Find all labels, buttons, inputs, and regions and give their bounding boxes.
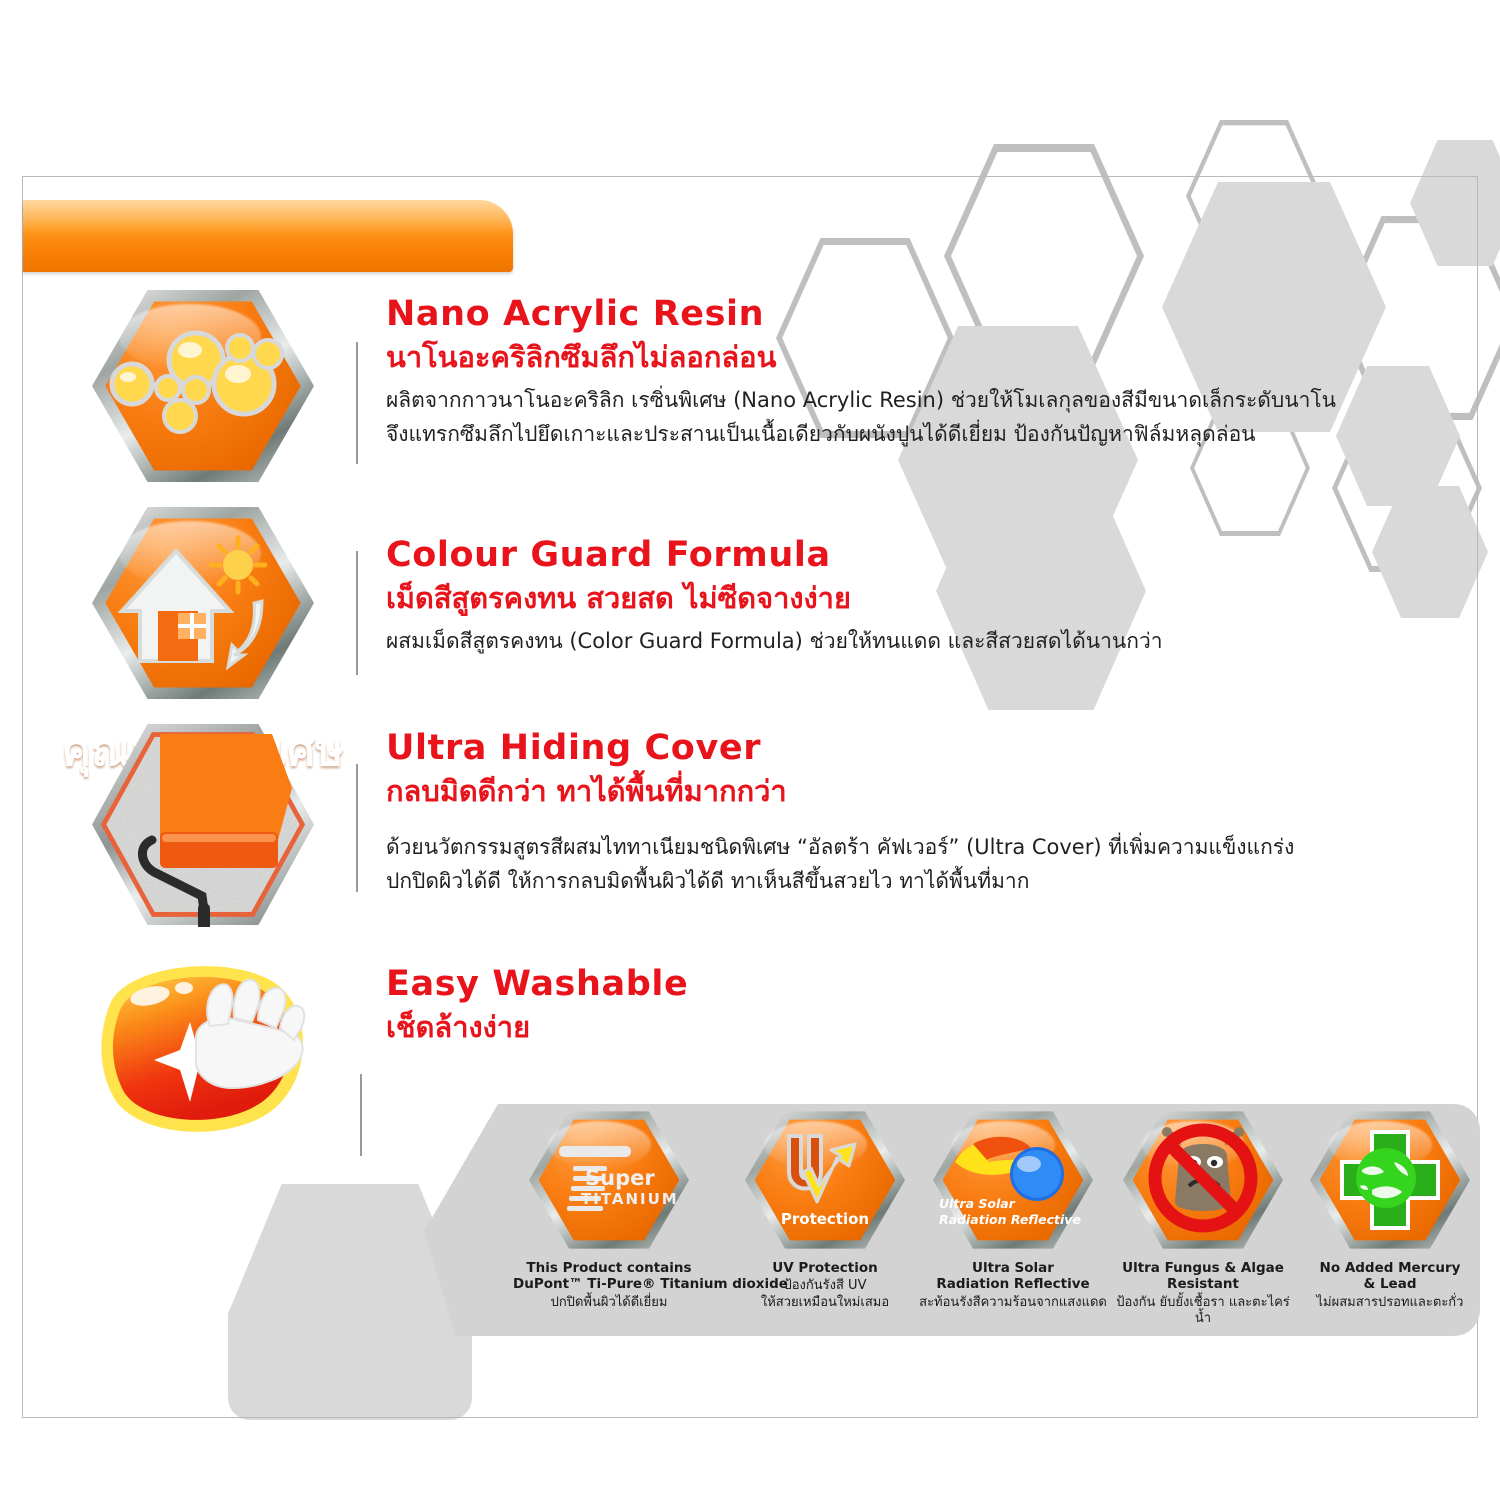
feature-separator xyxy=(360,1074,362,1156)
feature-title-th: กลบมิดดีกว่า ทาได้พื้นที่มากกว่า xyxy=(386,774,1294,809)
badge-inner-main-label: Ultra Solar xyxy=(939,1196,1053,1211)
feature-title-en: Ultra Hiding Cover xyxy=(386,730,1294,767)
feature-text-block: Nano Acrylic Resin นาโนอะคริลิกซึมลึกไม่… xyxy=(386,296,1336,451)
badge-caption-en-line2: & Lead xyxy=(1300,1276,1480,1292)
badge-inner-sub-label: TITANIUM xyxy=(581,1190,685,1208)
super-titanium-icon: Super TITANIUM xyxy=(529,1110,689,1250)
badge-no-mercury-lead: No Added Mercury & Lead ไม่ผสมสารปรอทและ… xyxy=(1300,1110,1480,1311)
badge-caption-en-line1: Ultra Fungus & Algae xyxy=(1110,1260,1296,1276)
badge-caption-th: ไม่ผสมสารปรอทและตะกั่ว xyxy=(1300,1295,1480,1311)
molecule-bubbles-hex-icon xyxy=(92,288,314,484)
feature-row-colour-guard-formula: Colour Guard Formula เม็ดสีสูตรคงทน สวยส… xyxy=(92,505,1472,705)
feature-title-en: Nano Acrylic Resin xyxy=(386,296,1336,333)
badge-caption-en-line2: Radiation Reflective xyxy=(915,1276,1111,1292)
feature-body-line1: ผลิตจากกาวนาโนอะคริลิก เรซิ่นพิเศษ (Nano… xyxy=(386,384,1336,417)
badge-solar-reflective: Ultra Solar Radiation Reflective Ultra S… xyxy=(915,1110,1111,1311)
feature-body-line2: จึงแทรกซึมลึกไปยึดเกาะและประสานเป็นเนื้อ… xyxy=(386,418,1336,451)
badge-super-titanium: Super TITANIUM This Product contains DuP… xyxy=(513,1110,705,1311)
badge-caption-th: ป้องกัน ยับยั้งเชื้อรา และตะไคร่น้ำ xyxy=(1110,1295,1296,1328)
badge-caption-en-line2: DuPont™ Ti-Pure® Titanium dioxide xyxy=(513,1276,705,1292)
uv-protection-icon: Protection xyxy=(745,1110,905,1250)
badge-inner-sub-label: Protection xyxy=(745,1210,905,1228)
badge-caption-th-line2: ให้สวยเหมือนใหม่เสมอ xyxy=(735,1295,915,1311)
feature-title-th: เช็ดล้างง่าย xyxy=(386,1010,688,1045)
badge-caption-en-line1: Ultra Solar xyxy=(915,1260,1111,1276)
feature-title-en: Easy Washable xyxy=(386,966,688,1003)
feature-separator xyxy=(356,342,358,464)
badge-caption-en-line1: No Added Mercury xyxy=(1300,1260,1480,1276)
feature-text-block: Easy Washable เช็ดล้างง่าย xyxy=(386,966,688,1045)
badge-caption-th: ปกปิดพื้นผิวได้ดีเยี่ยม xyxy=(513,1295,705,1311)
feature-title-en: Colour Guard Formula xyxy=(386,537,1163,574)
feature-title-th: นาโนอะคริลิกซึมลึกไม่ลอกล่อน xyxy=(386,340,1336,375)
feature-row-nano-acrylic-resin: Nano Acrylic Resin นาโนอะคริลิกซึมลึกไม่… xyxy=(92,288,1472,498)
badge-inner-main-label: Super xyxy=(585,1166,681,1190)
poster-root: คุณสมบัติพิเศษ xyxy=(0,0,1500,1500)
section-title-tab xyxy=(23,200,513,272)
badge-caption-en-line1: UV Protection xyxy=(735,1260,915,1276)
solar-reflective-icon: Ultra Solar Radiation Reflective xyxy=(933,1110,1093,1250)
badge-caption-th-line1: ป้องกันรังสี UV xyxy=(735,1278,915,1294)
badge-caption-en-line2: Resistant xyxy=(1110,1276,1296,1292)
badge-caption-en-line1: This Product contains xyxy=(513,1260,705,1276)
no-mercury-lead-icon xyxy=(1310,1110,1470,1250)
paint-roller-hex-icon xyxy=(92,722,314,927)
feature-body-line1: ด้วยนวัตกรรมสูตรสีผสมไททาเนียมชนิดพิเศษ … xyxy=(386,831,1294,864)
feature-text-block: Ultra Hiding Cover กลบมิดดีกว่า ทาได้พื้… xyxy=(386,730,1294,898)
feature-title-th: เม็ดสีสูตรคงทน สวยสด ไม่ซีดจางง่าย xyxy=(386,581,1163,616)
feature-body-line2: ปกปิดผิวได้ดี ให้การกลบมิดพื้นผิวได้ดี ท… xyxy=(386,865,1294,898)
badge-inner-sub-label: Radiation Reflective xyxy=(939,1212,1083,1227)
feature-row-ultra-hiding-cover: Ultra Hiding Cover กลบมิดดีกว่า ทาได้พื้… xyxy=(92,722,1472,932)
no-fungus-algae-icon xyxy=(1123,1110,1283,1250)
badge-uv-protection: Protection UV Protection ป้องกันรังสี UV… xyxy=(735,1110,915,1311)
feature-text-block: Colour Guard Formula เม็ดสีสูตรคงทน สวยส… xyxy=(386,537,1163,657)
badge-fungus-algae: Ultra Fungus & Algae Resistant ป้องกัน ย… xyxy=(1110,1110,1296,1327)
tab-gloss xyxy=(23,200,513,234)
wiping-hand-icon xyxy=(92,952,322,1148)
feature-body-line1: ผสมเม็ดสีสูตรคงทน (Color Guard Formula) … xyxy=(386,625,1163,658)
badge-caption-th: สะท้อนรังสีความร้อนจากแสงแดด xyxy=(915,1295,1111,1311)
feature-separator xyxy=(356,764,358,892)
feature-separator xyxy=(356,551,358,675)
house-sun-hex-icon xyxy=(92,505,314,701)
